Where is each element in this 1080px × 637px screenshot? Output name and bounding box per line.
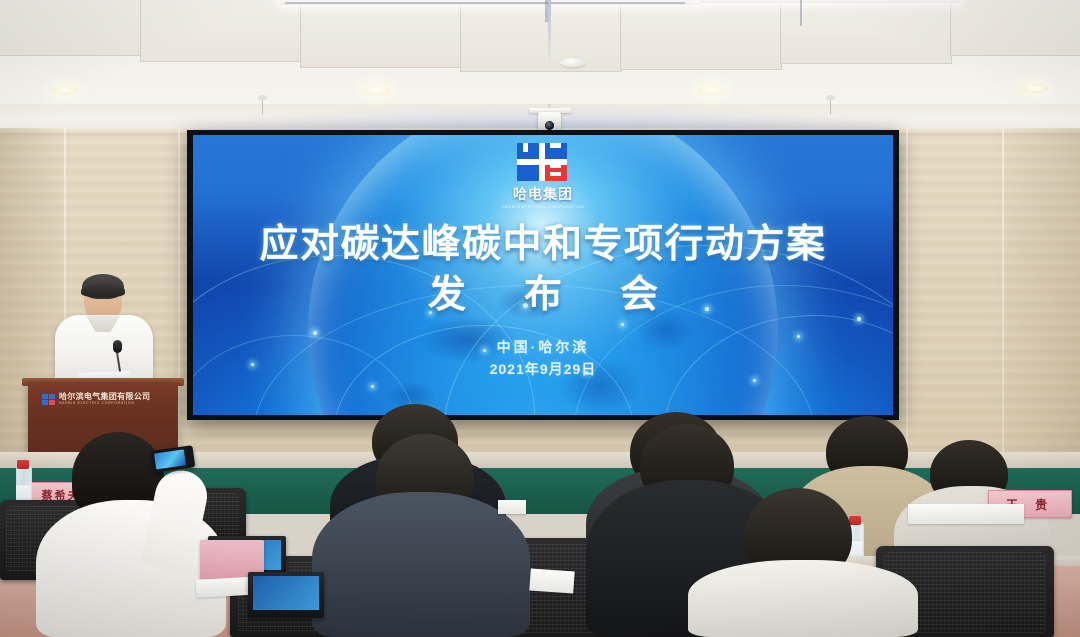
podium-nameplate: 哈尔滨电气集团有限公司 HARBIN ELECTRIC CORPORATION — [42, 390, 166, 408]
bottle-label — [16, 484, 30, 501]
ceiling-downlight — [52, 86, 78, 95]
he-logo-mark — [517, 143, 569, 183]
ceiling-downlight — [1022, 84, 1048, 93]
led-screen[interactable]: 哈电集团 HARBIN ELECTRIC CORPORATION 应对碳达峰碳中… — [193, 135, 893, 415]
logo-company-name-cn: 哈电集团 — [491, 187, 595, 202]
bottle-cap — [849, 516, 861, 525]
harbin-electric-logo: 哈电集团 HARBIN ELECTRIC CORPORATION — [491, 143, 595, 209]
event-date: 2021年9月29日 — [193, 359, 893, 379]
audience-shoulders — [688, 560, 918, 637]
event-location: 中国·哈尔滨 — [193, 337, 893, 357]
podium-sign-en: HARBIN ELECTRIC CORPORATION — [59, 402, 150, 405]
event-title-line2: 发布会 — [193, 263, 893, 318]
ceiling — [0, 0, 1080, 108]
podium-logo-icon — [42, 394, 56, 405]
microphone-icon — [113, 340, 122, 353]
smoke-detector-icon — [560, 58, 586, 67]
document-paper[interactable] — [908, 504, 1024, 524]
ceiling-downlight — [698, 86, 724, 95]
ceiling-light-strip — [700, 0, 960, 3]
ceiling-downlight — [364, 86, 390, 95]
logo-company-name-en: HARBIN ELECTRIC CORPORATION — [491, 204, 595, 209]
document-paper[interactable] — [498, 500, 526, 514]
camera-lens-icon — [545, 121, 554, 130]
podium-sign-cn: 哈尔滨电气集团有限公司 — [59, 393, 150, 401]
document-paper[interactable] — [529, 568, 574, 593]
bottle-cap — [17, 460, 29, 469]
laptop[interactable] — [248, 572, 324, 618]
speaker-hair — [82, 274, 124, 299]
screenshot-root: 哈电集团 HARBIN ELECTRIC CORPORATION 应对碳达峰碳中… — [0, 0, 1080, 637]
event-title-line1: 应对碳达峰碳中和专项行动方案 — [193, 213, 893, 269]
